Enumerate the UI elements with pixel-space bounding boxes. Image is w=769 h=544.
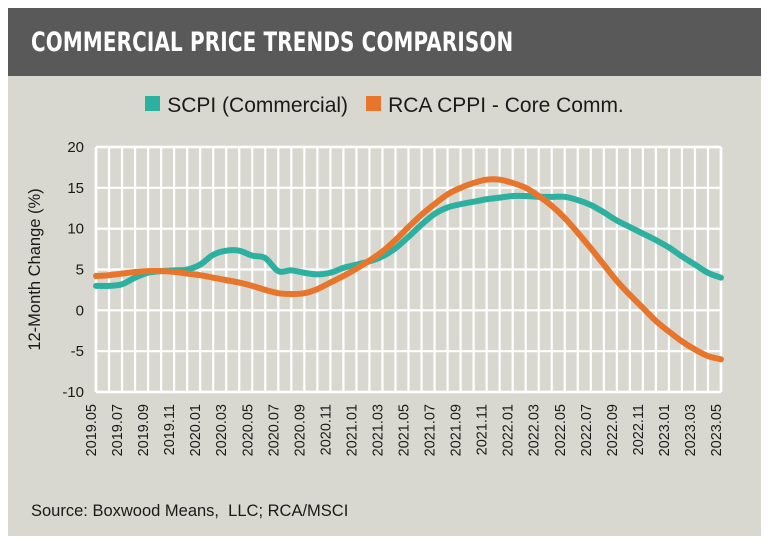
y-tick-labels: 20151050-5-10 — [62, 139, 84, 401]
x-tick-label: 2019.09 — [136, 404, 152, 456]
x-tick-label: 2021.11 — [475, 404, 491, 455]
x-tick-label: 2019.11 — [162, 404, 178, 455]
y-tick-label: 0 — [76, 302, 84, 319]
x-tick-label: 2020.07 — [266, 404, 282, 456]
y-axis-title: 12-Month Change (%) — [26, 188, 44, 350]
x-tick-label: 2021.03 — [371, 404, 387, 456]
x-tick-label: 2021.07 — [423, 404, 439, 456]
x-tick-label: 2020.01 — [188, 404, 204, 456]
x-tick-label: 2022.05 — [553, 404, 569, 456]
source-note: Source: Boxwood Means, LLC; RCA/MSCI — [31, 502, 348, 521]
x-tick-labels: 2019.052019.072019.092019.112020.012020.… — [84, 404, 725, 456]
x-tick-label: 2022.07 — [579, 404, 595, 456]
line-chart-svg: 20151050-5-10 2019.052019.072019.092019.… — [8, 8, 761, 536]
y-tick-label: -5 — [71, 343, 84, 360]
y-tick-label: 5 — [76, 262, 84, 279]
chart-figure: COMMERCIAL PRICE TRENDS COMPARISON SCPI … — [0, 0, 769, 544]
x-tick-label: 2020.11 — [318, 404, 334, 455]
y-tick-label: 20 — [67, 139, 84, 156]
x-tick-label: 2021.05 — [397, 404, 413, 456]
x-tick-label: 2022.01 — [501, 404, 517, 456]
x-tick-label: 2022.11 — [631, 404, 647, 455]
x-tick-label: 2019.05 — [84, 404, 100, 456]
x-tick-label: 2022.03 — [527, 404, 543, 456]
y-tick-label: -10 — [62, 384, 84, 401]
x-tick-label: 2023.05 — [709, 404, 725, 456]
x-tick-label: 2020.05 — [240, 404, 256, 456]
x-tick-label: 2019.07 — [110, 404, 126, 456]
x-tick-label: 2022.09 — [605, 404, 621, 456]
x-tick-label: 2023.03 — [683, 404, 699, 456]
chart-panel: COMMERCIAL PRICE TRENDS COMPARISON SCPI … — [8, 8, 761, 536]
x-tick-label: 2023.01 — [657, 404, 673, 456]
x-tick-label: 2021.01 — [344, 404, 360, 456]
y-tick-label: 10 — [67, 221, 84, 238]
y-axis-title-text: 12-Month Change (%) — [26, 188, 44, 350]
x-tick-label: 2020.09 — [292, 404, 308, 456]
x-tick-label: 2021.09 — [449, 404, 465, 456]
y-tick-label: 15 — [67, 180, 84, 197]
plot-wrapper: 20151050-5-10 2019.052019.072019.092019.… — [8, 8, 761, 536]
x-tick-label: 2020.03 — [214, 404, 230, 456]
